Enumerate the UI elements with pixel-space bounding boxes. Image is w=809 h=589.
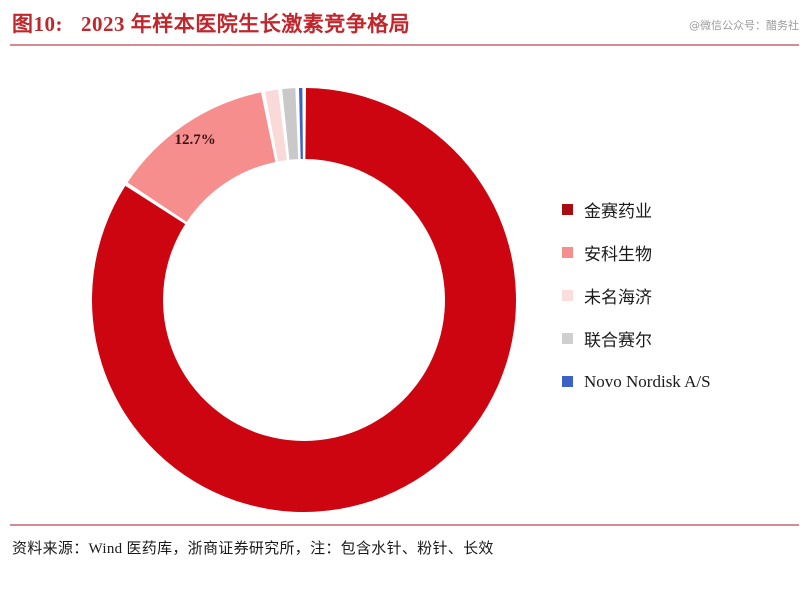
donut-slice-group xyxy=(92,88,516,512)
donut-chart-svg: 84.2%12.7% xyxy=(0,48,560,524)
legend-item-label: 未名海济 xyxy=(584,283,652,308)
footer-divider xyxy=(10,524,799,526)
donut-chart: 84.2%12.7% xyxy=(0,48,560,524)
donut-slice[interactable] xyxy=(299,88,303,159)
donut-slice-value-label: 12.7% xyxy=(175,132,216,148)
legend-item-anke[interactable]: 安科生物 xyxy=(562,231,802,274)
legend-item-novo-nordisk[interactable]: Novo Nordisk A/S xyxy=(562,360,802,403)
legend-swatch-icon xyxy=(562,204,573,215)
page-title: 图10:2023 年样本医院生长激素竞争格局 xyxy=(12,8,410,38)
legend-item-label: 安科生物 xyxy=(584,240,652,265)
chart-container: 84.2%12.7% 金赛药业 安科生物 未名海济 联合赛尔 Novo Nord… xyxy=(0,48,809,524)
figure-title-text: 2023 年样本医院生长激素竞争格局 xyxy=(81,12,410,36)
donut-slice-value-label: 84.2% xyxy=(397,503,438,519)
source-note: 资料来源：Wind 医药库，浙商证券研究所，注：包含水针、粉针、长效 xyxy=(12,537,494,558)
legend-swatch-icon xyxy=(562,247,573,258)
legend-swatch-icon xyxy=(562,376,573,387)
legend-swatch-icon xyxy=(562,333,573,344)
legend-item-weiming[interactable]: 未名海济 xyxy=(562,274,802,317)
legend-item-label: 联合赛尔 xyxy=(584,326,652,351)
legend-item-lianhe[interactable]: 联合赛尔 xyxy=(562,317,802,360)
legend-item-label: Novo Nordisk A/S xyxy=(584,372,711,392)
chart-legend: 金赛药业 安科生物 未名海济 联合赛尔 Novo Nordisk A/S xyxy=(562,188,802,403)
figure-number: 图10: xyxy=(12,12,63,36)
legend-swatch-icon xyxy=(562,290,573,301)
legend-item-label: 金赛药业 xyxy=(584,197,652,222)
figure-header: 图10:2023 年样本医院生长激素竞争格局 @微信公众号：醋务社 xyxy=(0,0,809,48)
legend-item-jinsai[interactable]: 金赛药业 xyxy=(562,188,802,231)
title-divider xyxy=(10,44,799,46)
watermark-text: @微信公众号：醋务社 xyxy=(689,17,799,33)
